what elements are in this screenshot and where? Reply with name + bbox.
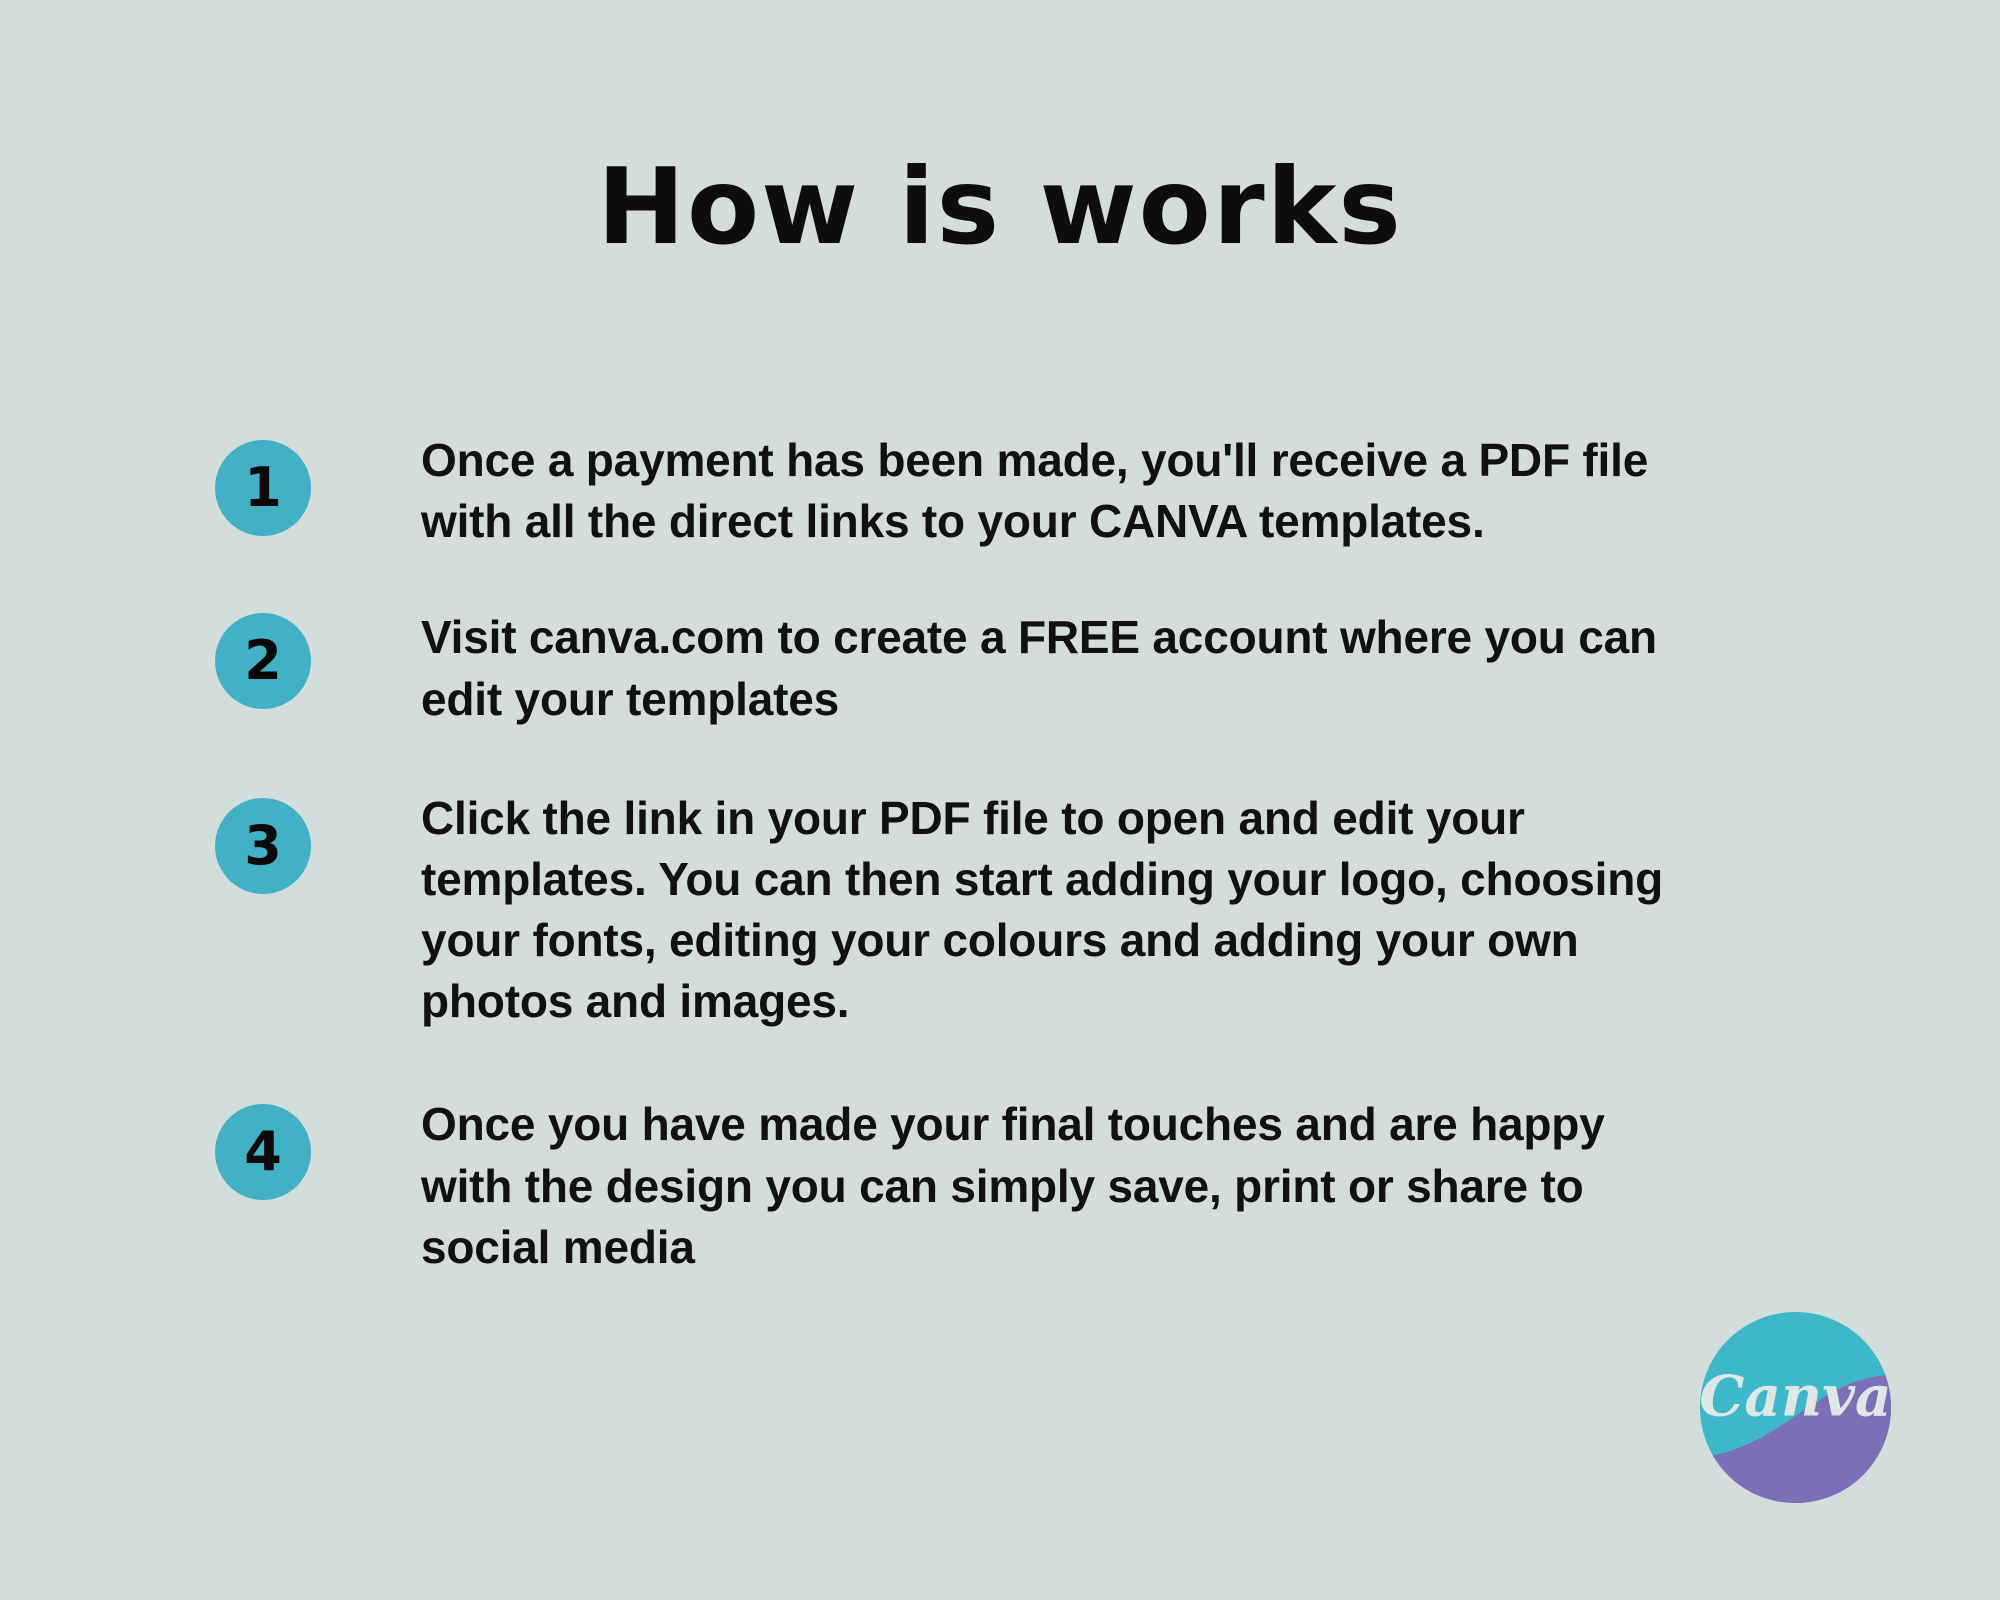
step-number-badge-2: 2 — [215, 613, 311, 709]
step-text-2: Visit canva.com to create a FREE account… — [421, 607, 1681, 729]
list-item: 4 Once you have made your final touches … — [215, 1094, 1815, 1278]
list-item: 3 Click the link in your PDF file to ope… — [215, 788, 1815, 1033]
canva-logo: Canva — [1698, 1310, 1893, 1505]
step-text-4: Once you have made your final touches an… — [421, 1094, 1681, 1278]
step-number-badge-3: 3 — [215, 798, 311, 894]
page-title: How is works — [0, 150, 2000, 266]
list-item: 2 Visit canva.com to create a FREE accou… — [215, 607, 1815, 729]
steps-list: 1 Once a payment has been made, you'll r… — [215, 430, 1815, 1278]
step-text-1: Once a payment has been made, you'll rec… — [421, 430, 1681, 552]
step-number-badge-1: 1 — [215, 440, 311, 536]
logo-wordmark: Canva — [1699, 1363, 1891, 1429]
list-item: 1 Once a payment has been made, you'll r… — [215, 430, 1815, 552]
step-number-badge-4: 4 — [215, 1104, 311, 1200]
step-text-3: Click the link in your PDF file to open … — [421, 788, 1681, 1033]
poster-canvas: How is works 1 Once a payment has been m… — [0, 0, 2000, 1600]
